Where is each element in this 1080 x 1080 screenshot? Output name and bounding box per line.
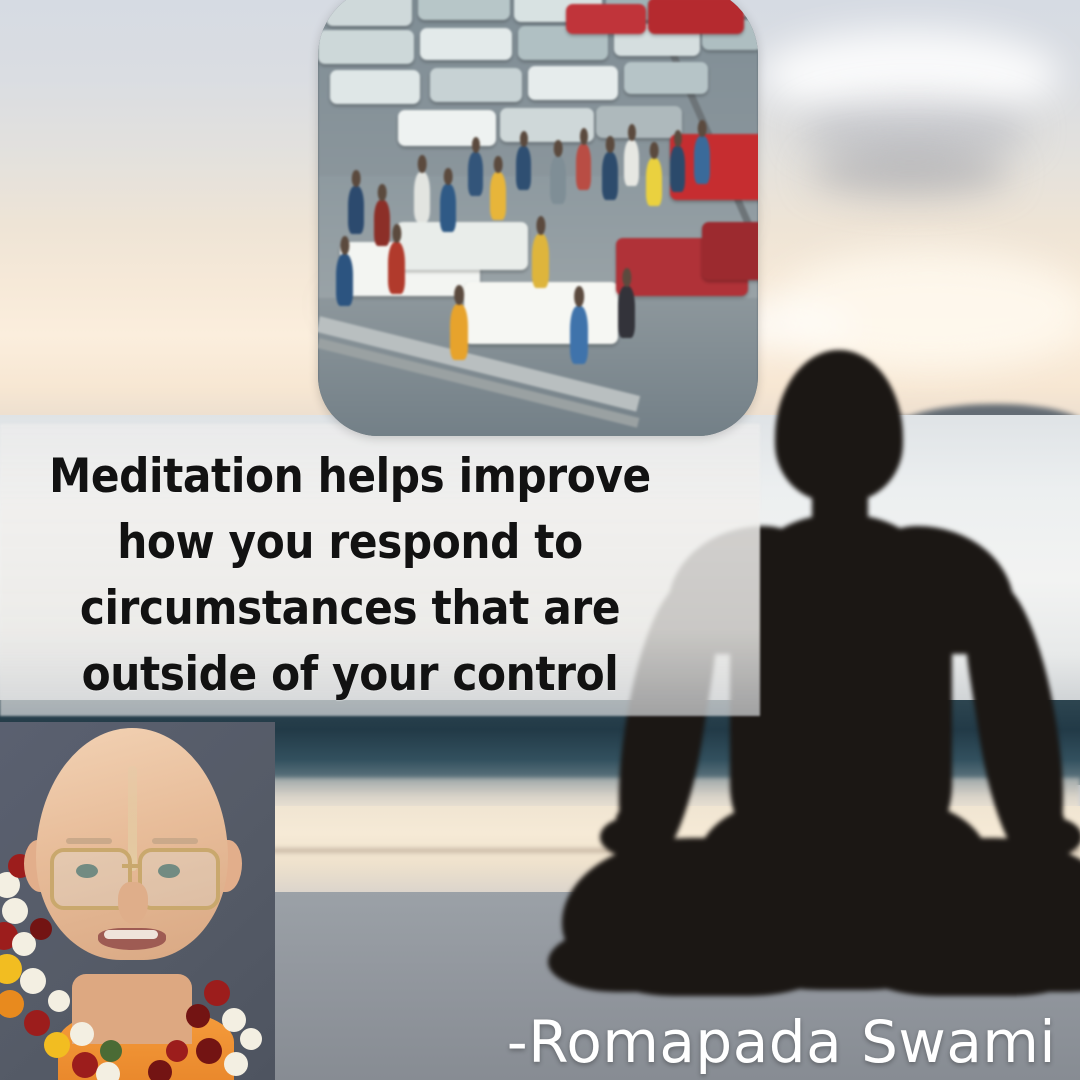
inset-car — [566, 4, 646, 34]
garland-flower — [148, 1060, 172, 1080]
quote-text: Meditation helps improve how you respond… — [0, 444, 700, 708]
garland-flower — [48, 990, 70, 1012]
inset-pedestrian — [414, 172, 430, 222]
inset-pedestrian — [618, 286, 635, 338]
inset-pedestrian — [602, 152, 618, 200]
inset-car — [420, 28, 512, 60]
inset-car — [430, 68, 522, 102]
inset-car — [624, 62, 708, 94]
cloud — [810, 150, 1010, 196]
portrait-nose — [118, 882, 148, 924]
inset-car — [396, 222, 528, 270]
garland-flower — [2, 898, 28, 924]
silhouette-mudra-right — [1038, 808, 1064, 830]
silhouette-torso — [730, 515, 952, 860]
garland-flower — [30, 918, 52, 940]
inset-pedestrian — [576, 144, 591, 190]
traffic-jam-inset-photo — [318, 0, 758, 436]
inset-car — [464, 282, 618, 344]
quote-line: outside of your control — [0, 642, 700, 708]
garland-flower — [204, 980, 230, 1006]
garland-flower — [100, 1040, 122, 1062]
inset-car — [318, 30, 414, 64]
attribution-text: -Romapada Swami — [507, 1008, 1056, 1076]
inset-pedestrian — [468, 152, 483, 196]
quote-poster: Meditation helps improve how you respond… — [0, 0, 1080, 1080]
inset-pedestrian — [336, 254, 353, 306]
garland-flower — [70, 1022, 94, 1046]
inset-pedestrian — [450, 304, 468, 360]
inset-pedestrian — [440, 184, 456, 232]
inset-pedestrian — [490, 172, 506, 220]
inset-car — [330, 70, 420, 104]
inset-pedestrian — [570, 306, 588, 364]
garland-flower — [24, 1010, 50, 1036]
inset-car — [596, 106, 682, 138]
garland-flower — [96, 1062, 120, 1080]
garland-flower — [20, 968, 46, 994]
inset-pedestrian — [646, 158, 662, 206]
inset-car — [648, 0, 744, 34]
garland-flower — [44, 1032, 70, 1058]
inset-car — [702, 222, 758, 280]
silhouette-knee-right — [988, 926, 1080, 992]
garland-flower — [222, 1008, 246, 1032]
inset-pedestrian — [374, 200, 390, 246]
inset-pedestrian — [624, 140, 639, 186]
author-portrait — [0, 722, 275, 1080]
quote-line: Meditation helps improve — [0, 444, 700, 510]
garland-flower — [166, 1040, 188, 1062]
quote-line: circumstances that are — [0, 576, 700, 642]
inset-car — [528, 66, 618, 100]
eyeglasses-bridge — [122, 864, 142, 868]
inset-pedestrian — [670, 146, 685, 192]
portrait-eyebrow — [66, 838, 112, 844]
inset-pedestrian — [532, 234, 549, 288]
inset-car — [326, 0, 412, 26]
garland-flower — [196, 1038, 222, 1064]
inset-car — [418, 0, 510, 20]
inset-pedestrian — [550, 156, 566, 204]
silhouette-knee-left — [548, 926, 698, 992]
garland-flower — [186, 1004, 210, 1028]
inset-pedestrian — [516, 146, 531, 190]
garland-flower — [224, 1052, 248, 1076]
inset-car — [398, 110, 496, 146]
silhouette-mudra-left — [616, 808, 642, 830]
inset-pedestrian — [388, 242, 405, 294]
silhouette-head — [775, 350, 903, 502]
garland-flower — [240, 1028, 262, 1050]
inset-pedestrian — [694, 136, 710, 184]
eyeglasses-lens — [138, 848, 220, 910]
inset-pedestrian — [348, 186, 364, 234]
portrait-eyebrow — [152, 838, 198, 844]
quote-line: how you respond to — [0, 510, 700, 576]
garland-flower — [72, 1052, 98, 1078]
portrait-teeth — [104, 930, 158, 939]
